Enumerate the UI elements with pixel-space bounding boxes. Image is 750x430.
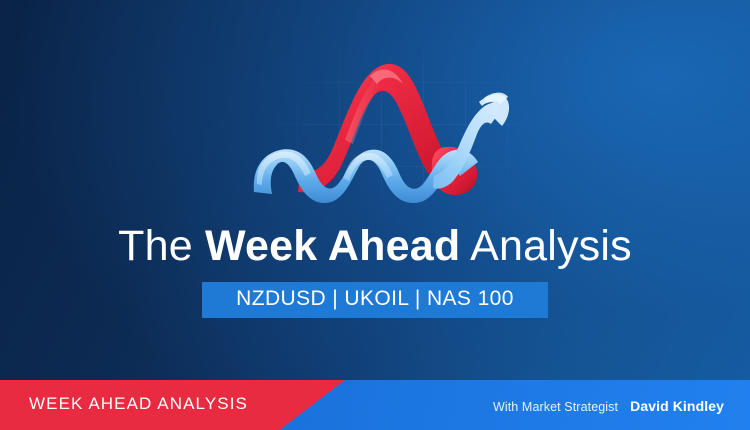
title-emphasis: Week Ahead xyxy=(205,222,460,270)
instruments-badge: NZDUSD | UKOIL | NAS 100 xyxy=(202,282,548,318)
footer-credit: With Market StrategistDavid Kindley xyxy=(493,397,724,416)
title-lead: The xyxy=(118,222,205,270)
credit-name: David Kindley xyxy=(630,398,724,414)
instruments-badge-row: NZDUSD | UKOIL | NAS 100 xyxy=(0,282,750,318)
page-title: The Week Ahead Analysis xyxy=(0,218,750,274)
footer-banner-label: WEEK AHEAD ANALYSIS xyxy=(29,394,248,414)
market-wave-arrow-logo xyxy=(248,44,513,204)
title-tail: Analysis xyxy=(460,222,632,270)
footer-bar: WEEK AHEAD ANALYSIS With Market Strategi… xyxy=(0,380,750,430)
week-ahead-analysis-banner: The Week Ahead Analysis NZDUSD | UKOIL |… xyxy=(0,0,750,430)
credit-prefix: With Market Strategist xyxy=(493,400,618,414)
